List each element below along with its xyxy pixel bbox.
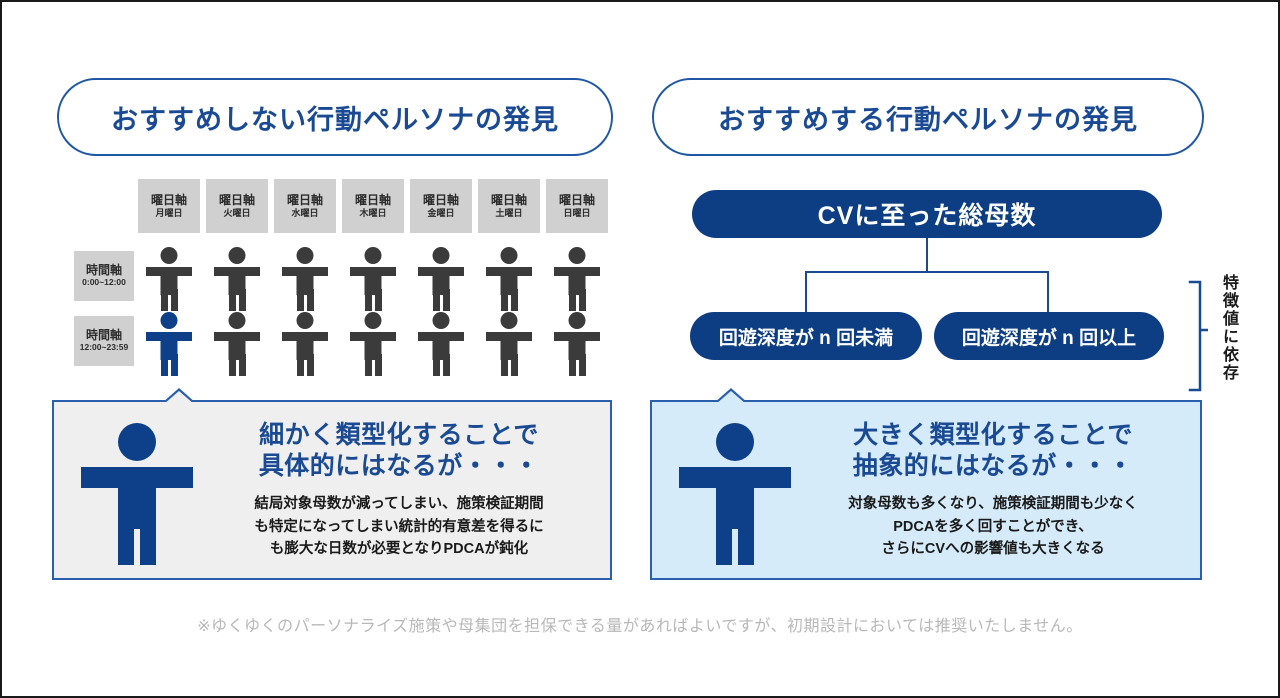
- day-axis-cell: 曜日軸 月曜日: [138, 179, 200, 233]
- person-leg-left: [161, 354, 168, 376]
- person-leg-right: [375, 289, 382, 311]
- callout-person-icon-left: [72, 415, 202, 565]
- person-icon: [274, 245, 336, 311]
- day-axis-cell: 曜日軸 金曜日: [410, 179, 472, 233]
- person-leg-right: [443, 289, 450, 311]
- person-head: [161, 247, 178, 264]
- header-left-label: おすすめしない行動ペルソナの発見: [111, 98, 559, 137]
- person-leg-left: [501, 289, 508, 311]
- person-head: [569, 247, 586, 264]
- person-head: [501, 312, 518, 329]
- person-leg-right: [511, 354, 518, 376]
- node-depth-at-least-n: 回遊深度が n 回以上: [934, 312, 1164, 360]
- person-leg-left: [297, 289, 304, 311]
- footnote-text: ※ゆくゆくのパーソナライズ施策や母集団を担保できる量があればよいですが、初期設計…: [2, 612, 1278, 636]
- callout-title-line1: 大きく類型化することで: [804, 420, 1182, 451]
- person-head: [297, 312, 314, 329]
- person-icon: [206, 310, 268, 376]
- callout-body-line3: も膨大な日数が必要となりPDCAが鈍化: [206, 538, 592, 560]
- person-leg-right: [307, 289, 314, 311]
- person-leg-left: [229, 289, 236, 311]
- person-head: [569, 312, 586, 329]
- person-head: [161, 312, 178, 329]
- day-axis-value: 火曜日: [223, 207, 250, 220]
- day-axis-value: 日曜日: [563, 207, 590, 220]
- person-icon: [342, 310, 404, 376]
- callout-body-left: 結局対象母数が減ってしまい、施策検証期間 も特定になってしまい統計的有意差を得る…: [206, 493, 592, 560]
- node-root-label: CVに至った総母数: [818, 196, 1037, 232]
- callout-title-left: 細かく類型化することで 具体的にはなるが・・・: [206, 420, 592, 483]
- person-head: [365, 247, 382, 264]
- person-leg-left: [229, 354, 236, 376]
- person-leg-right: [443, 354, 450, 376]
- person-icon: [342, 245, 404, 311]
- time-axis-value: 0:00~12:00: [82, 277, 126, 289]
- day-axis-title: 曜日軸: [491, 193, 527, 207]
- person-icon: [478, 310, 540, 376]
- person-leg-left: [118, 515, 134, 565]
- connector-root-vertical: [926, 238, 928, 272]
- person-leg-right: [140, 515, 156, 565]
- node-right-label: 回遊深度が n 回以上: [962, 323, 1136, 350]
- person-leg-left: [569, 354, 576, 376]
- connector-right-vertical: [1047, 271, 1049, 313]
- person-head: [118, 423, 156, 461]
- day-axis-value: 月曜日: [155, 207, 182, 220]
- time-axis-cell-am: 時間軸 0:00~12:00: [74, 251, 134, 301]
- person-leg-left: [433, 354, 440, 376]
- person-leg-left: [501, 354, 508, 376]
- person-head: [433, 247, 450, 264]
- day-axis-title: 曜日軸: [423, 193, 459, 207]
- time-axis-title: 時間軸: [86, 263, 122, 277]
- callout-title-line1: 細かく類型化することで: [206, 420, 592, 451]
- callout-body-line2: も特定になってしまい統計的有意差を得るに: [206, 516, 592, 538]
- day-axis-title: 曜日軸: [219, 193, 255, 207]
- callout-title-right: 大きく類型化することで 抽象的にはなるが・・・: [804, 420, 1182, 483]
- day-axis-cell: 曜日軸 火曜日: [206, 179, 268, 233]
- day-axis-cell: 曜日軸 木曜日: [342, 179, 404, 233]
- connector-left-vertical: [805, 271, 807, 313]
- callout-pointer-left: [162, 387, 196, 402]
- slide-canvas: おすすめしない行動ペルソナの発見 おすすめする行動ペルソナの発見 曜日軸 月曜日…: [0, 0, 1280, 698]
- callout-body-line3: さらにCVへの影響値も大きくなる: [804, 538, 1182, 560]
- person-head: [297, 247, 314, 264]
- day-axis-cell: 曜日軸 日曜日: [546, 179, 608, 233]
- callout-body-right: 対象母数も多くなり、施策検証期間も少なく PDCAを多く回すことができ、 さらに…: [804, 493, 1182, 560]
- curly-brace-icon: [1188, 280, 1210, 392]
- callout-pointer-right: [714, 387, 748, 402]
- person-icon-highlighted: [138, 310, 200, 376]
- persona-figure-row-am: [138, 245, 614, 311]
- person-leg-right: [738, 515, 754, 565]
- day-axis-header-row: 曜日軸 月曜日 曜日軸 火曜日 曜日軸 水曜日 曜日軸 木曜日 曜日軸 金曜日 …: [138, 179, 614, 233]
- person-leg-right: [307, 354, 314, 376]
- header-right-label: おすすめする行動ペルソナの発見: [718, 98, 1138, 137]
- callout-body-line1: 結局対象母数が減ってしまい、施策検証期間: [206, 493, 592, 515]
- day-axis-value: 金曜日: [427, 207, 454, 220]
- person-head: [229, 312, 246, 329]
- person-head: [365, 312, 382, 329]
- day-axis-value: 土曜日: [495, 207, 522, 220]
- node-total-cv-population: CVに至った総母数: [692, 190, 1162, 238]
- brace-label-feature-dependent: 特徴値に依存: [1210, 274, 1236, 382]
- day-axis-title: 曜日軸: [151, 193, 187, 207]
- person-leg-left: [365, 354, 372, 376]
- day-axis-title: 曜日軸: [287, 193, 323, 207]
- header-pill-right: おすすめする行動ペルソナの発見: [652, 78, 1204, 156]
- header-pill-left: おすすめしない行動ペルソナの発見: [57, 78, 613, 156]
- time-axis-title: 時間軸: [86, 328, 122, 342]
- callout-title-line2: 具体的にはなるが・・・: [206, 451, 592, 482]
- time-axis-cell-pm: 時間軸 12:00~23:59: [74, 316, 134, 366]
- person-leg-right: [239, 289, 246, 311]
- day-axis-title: 曜日軸: [559, 193, 595, 207]
- person-leg-right: [375, 354, 382, 376]
- person-leg-right: [171, 289, 178, 311]
- person-leg-left: [716, 515, 732, 565]
- callout-title-line2: 抽象的にはなるが・・・: [804, 451, 1182, 482]
- person-leg-right: [579, 354, 586, 376]
- person-leg-left: [297, 354, 304, 376]
- node-left-label: 回遊深度が n 回未満: [719, 323, 893, 350]
- node-depth-less-than-n: 回遊深度が n 回未満: [690, 312, 922, 360]
- person-leg-right: [171, 354, 178, 376]
- connector-horizontal: [805, 271, 1049, 273]
- person-leg-right: [239, 354, 246, 376]
- person-icon: [274, 310, 336, 376]
- person-head: [716, 423, 754, 461]
- person-icon: [206, 245, 268, 311]
- callout-text-right: 大きく類型化することで 抽象的にはなるが・・・ 対象母数も多くなり、施策検証期間…: [800, 420, 1182, 561]
- callout-box-right: 大きく類型化することで 抽象的にはなるが・・・ 対象母数も多くなり、施策検証期間…: [650, 400, 1202, 580]
- callout-body-line2: PDCAを多く回すことができ、: [804, 516, 1182, 538]
- persona-figure-row-pm: [138, 310, 614, 376]
- person-icon: [546, 310, 608, 376]
- person-leg-right: [511, 289, 518, 311]
- callout-box-left: 細かく類型化することで 具体的にはなるが・・・ 結局対象母数が減ってしまい、施策…: [52, 400, 612, 580]
- callout-text-left: 細かく類型化することで 具体的にはなるが・・・ 結局対象母数が減ってしまい、施策…: [202, 420, 592, 561]
- person-head: [433, 312, 450, 329]
- person-icon: [410, 310, 472, 376]
- person-icon: [478, 245, 540, 311]
- day-axis-value: 木曜日: [359, 207, 386, 220]
- person-head: [229, 247, 246, 264]
- person-leg-left: [161, 289, 168, 311]
- day-axis-cell: 曜日軸 水曜日: [274, 179, 336, 233]
- person-leg-right: [579, 289, 586, 311]
- person-icon: [410, 245, 472, 311]
- day-axis-value: 水曜日: [291, 207, 318, 220]
- time-axis-value: 12:00~23:59: [80, 342, 128, 354]
- person-leg-left: [569, 289, 576, 311]
- person-icon: [138, 245, 200, 311]
- person-head: [501, 247, 518, 264]
- person-icon: [546, 245, 608, 311]
- callout-person-icon-right: [670, 415, 800, 565]
- day-axis-cell: 曜日軸 土曜日: [478, 179, 540, 233]
- person-leg-left: [365, 289, 372, 311]
- person-leg-left: [433, 289, 440, 311]
- day-axis-title: 曜日軸: [355, 193, 391, 207]
- callout-body-line1: 対象母数も多くなり、施策検証期間も少なく: [804, 493, 1182, 515]
